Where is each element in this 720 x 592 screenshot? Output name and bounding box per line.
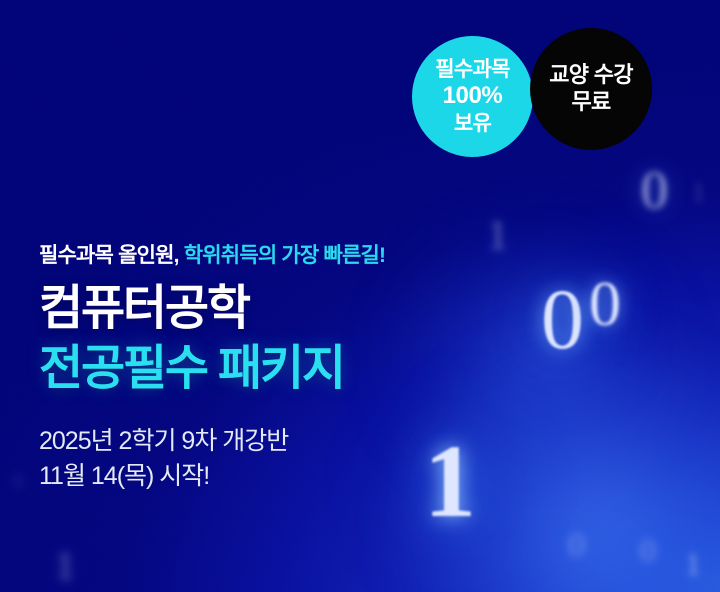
schedule-line-1: 2025년 2학기 9차 개강반 (39, 424, 509, 460)
copy-block: 필수과목 올인원, 학위취득의 가장 빠른길! 컴퓨터공학 전공필수 패키지 2… (39, 243, 509, 495)
badge-free-liberal-arts: 교양 수강 무료 (530, 28, 652, 150)
headline-line-2: 전공필수 패키지 (39, 342, 509, 396)
promo-banner: 0 1 0 0 1 1 0 0 1 1 0 필수과목 100% 보유 교양 수강… (0, 0, 720, 592)
eyebrow-text-cyan: 학위취득의 가장 빠른길! (184, 244, 385, 267)
badge-required-courses-line1: 필수과목 (435, 57, 509, 82)
eyebrow-text: 필수과목 올인원, 학위취득의 가장 빠른길! (39, 243, 509, 268)
badge-required-courses-line2: 100% (443, 82, 503, 111)
badge-required-courses: 필수과목 100% 보유 (412, 36, 533, 157)
page-title: 컴퓨터공학 전공필수 패키지 (39, 282, 509, 396)
badge-required-courses-line3: 보유 (454, 111, 491, 136)
badge-group: 필수과목 100% 보유 교양 수강 무료 (412, 28, 672, 160)
eyebrow-text-white: 필수과목 올인원, (39, 244, 179, 267)
badge-free-liberal-arts-line2: 무료 (571, 89, 610, 116)
headline-line-1: 컴퓨터공학 (39, 282, 509, 336)
schedule-line-2: 11월 14(목) 시작! (39, 459, 509, 495)
badge-free-liberal-arts-line1: 교양 수강 (549, 62, 633, 89)
schedule-text: 2025년 2학기 9차 개강반 11월 14(목) 시작! (39, 424, 509, 495)
